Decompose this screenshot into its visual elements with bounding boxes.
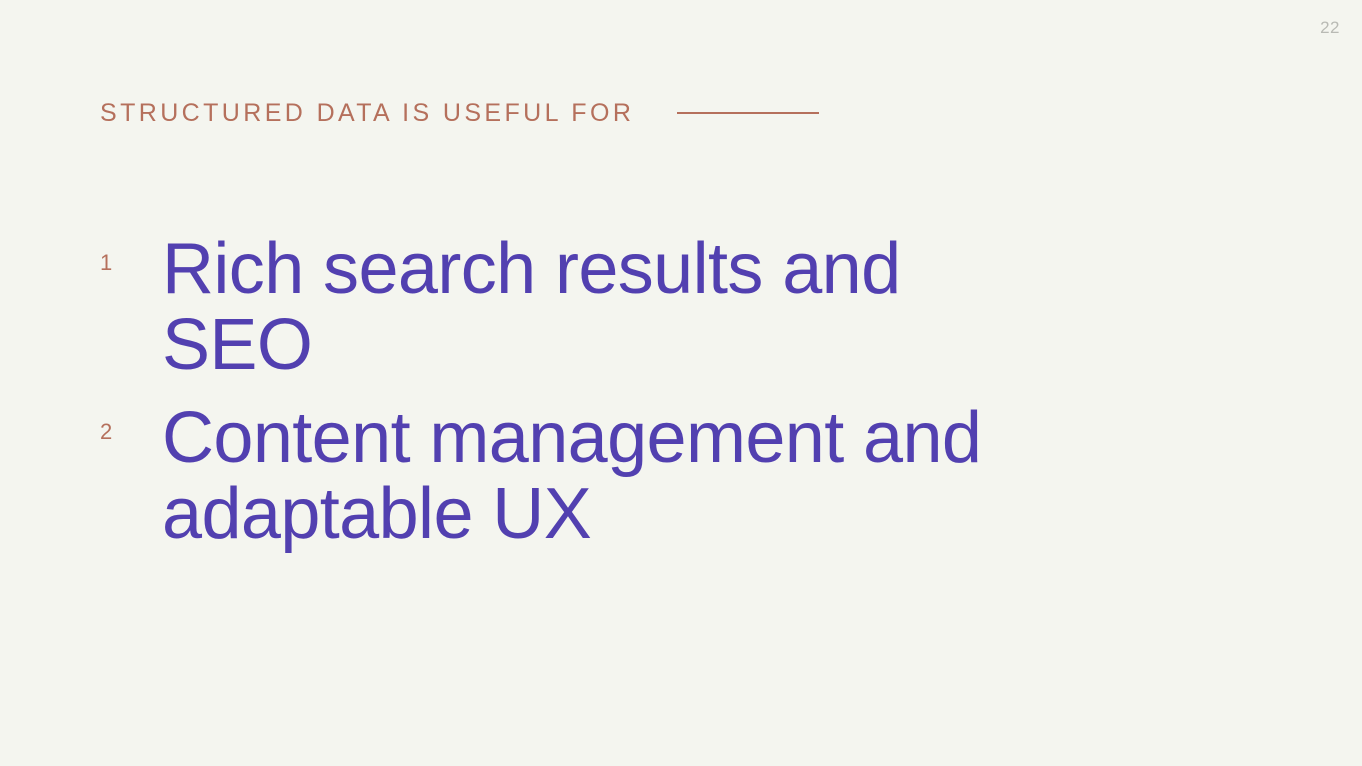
page-number: 22 [1320, 19, 1340, 36]
eyebrow-heading-row: STRUCTURED DATA IS USEFUL FOR [100, 96, 819, 130]
list-item: 1 Rich search results and SEO [100, 232, 1160, 383]
list-item-text: Rich search results and SEO [162, 232, 1022, 383]
eyebrow-title: STRUCTURED DATA IS USEFUL FOR [100, 101, 634, 126]
list-item-number: 2 [100, 401, 162, 443]
slide: 22 STRUCTURED DATA IS USEFUL FOR 1 Rich … [0, 0, 1362, 766]
list-item-number: 1 [100, 232, 162, 274]
horizontal-rule-divider [677, 112, 819, 114]
list-item-text: Content management and adaptable UX [162, 401, 992, 552]
numbered-list: 1 Rich search results and SEO 2 Content … [100, 232, 1160, 570]
list-item: 2 Content management and adaptable UX [100, 401, 1160, 552]
